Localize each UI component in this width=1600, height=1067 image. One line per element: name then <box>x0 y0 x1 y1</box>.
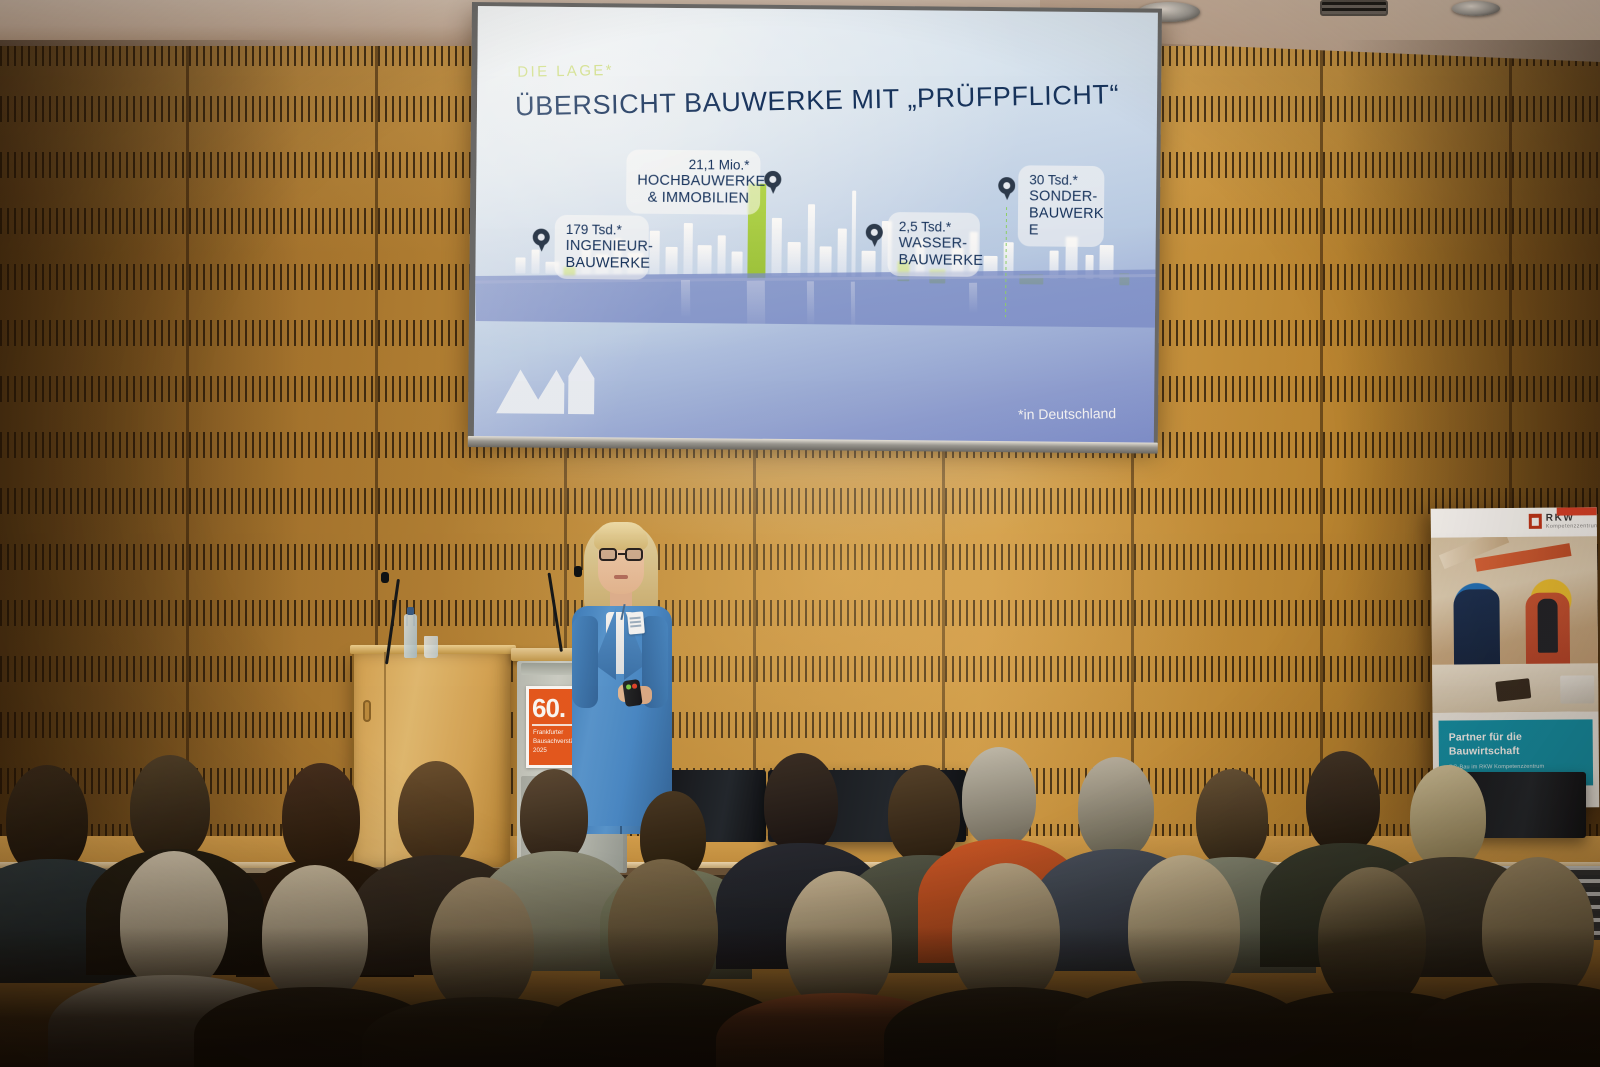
slide-footnote: *in Deutschland <box>1018 405 1116 422</box>
audience-head <box>120 851 228 991</box>
audience-head <box>398 761 474 865</box>
poster-edition-number: 60. <box>532 695 565 721</box>
audience-head <box>1410 765 1486 869</box>
callout-hochbauwerke: 21,1 Mio.* HOCHBAUWERKE & IMMOBILIEN <box>626 149 761 214</box>
screen-frame: DIE LAGE* ÜBERSICHT BAUWERKE MIT „PRÜFPF… <box>468 2 1162 445</box>
callout-label-2: BAUWERKE <box>898 252 968 270</box>
map-pin-icon <box>764 171 781 194</box>
callout-label-2: BAUWERK <box>1029 205 1093 223</box>
banner-headline-line1: Partner für die <box>1449 731 1522 744</box>
ceiling-downlight-icon <box>1452 1 1500 16</box>
eyeglasses-icon <box>598 548 644 561</box>
name-badge <box>627 611 645 634</box>
map-pin-icon <box>866 224 883 247</box>
cabinet-handle[interactable] <box>363 700 371 722</box>
callout-label-1: HOCHBAUWERKE <box>637 172 749 190</box>
bottle-cap <box>407 607 414 615</box>
clicker-green-button[interactable] <box>626 684 631 689</box>
lens-right <box>625 548 643 561</box>
callout-sonderbauwerke: 30 Tsd.* SONDER- BAUWERK E <box>1018 165 1105 246</box>
audience-head <box>262 865 368 1003</box>
presentation-slide: DIE LAGE* ÜBERSICHT BAUWERKE MIT „PRÜFPF… <box>474 6 1158 445</box>
callout-label-1: SONDER- <box>1029 188 1093 206</box>
audience-head <box>1196 769 1268 867</box>
callout-label-3: E <box>1029 222 1093 240</box>
callout-label-1: WASSER- <box>899 235 969 253</box>
tablet-icon <box>1495 678 1531 702</box>
slide-eyebrow: DIE LAGE* <box>517 62 614 81</box>
audience-head <box>888 765 960 863</box>
water-bottle <box>404 614 417 658</box>
projection-screen: DIE LAGE* ÜBERSICHT BAUWERKE MIT „PRÜFPF… <box>468 2 1162 445</box>
slide-title: ÜBERSICHT BAUWERKE MIT „PRÜFPFLICHT“ <box>515 79 1120 122</box>
audience-head <box>282 763 360 871</box>
banner-header: RKW Kompetenzzentrum <box>1431 507 1597 537</box>
audience <box>0 747 1600 1067</box>
audience-shoulders <box>1412 983 1600 1067</box>
callout-value: 179 Tsd.* <box>566 222 638 238</box>
audience-head <box>1306 751 1380 853</box>
callout-ingenieurbauwerke: 179 Tsd.* INGENIEUR- BAUWERKE <box>554 215 649 280</box>
audience-head <box>952 863 1060 1005</box>
banner-photo <box>1431 536 1599 712</box>
audience-head <box>130 755 210 861</box>
callout-value: 21,1 Mio.* <box>637 157 749 174</box>
callout-wasserbauwerke: 2,5 Tsd.* WASSER- BAUWERKE <box>887 212 980 277</box>
banner-accent-tab <box>1557 507 1597 515</box>
presentation-clicker[interactable] <box>622 679 642 707</box>
conference-photo-scene: DIE LAGE* ÜBERSICHT BAUWERKE MIT „PRÜFPF… <box>0 0 1600 1067</box>
callout-label-2: BAUWERKE <box>565 255 637 273</box>
lens-left <box>599 548 617 561</box>
water-glass <box>424 636 438 658</box>
speaker-mouth <box>614 575 628 579</box>
audience-head <box>430 877 534 1013</box>
audience-head <box>1482 857 1594 1001</box>
callout-value: 30 Tsd.* <box>1029 172 1093 188</box>
banner-brand-sub: Kompetenzzentrum <box>1546 523 1599 529</box>
map-pin-icon <box>998 177 1015 200</box>
audience-head <box>1128 855 1240 1001</box>
glasses-bridge <box>618 553 625 555</box>
audience-head <box>786 871 892 1011</box>
audience-head <box>1078 757 1154 859</box>
rkw-logo-icon <box>1529 514 1542 529</box>
audience-head <box>764 753 838 853</box>
speaker-hair-front <box>594 522 648 550</box>
map-pin-icon <box>533 229 550 252</box>
ceiling-vent-icon <box>1320 0 1388 16</box>
audience-head <box>520 769 588 863</box>
callout-label-1: INGENIEUR- <box>566 238 638 256</box>
audience-head <box>962 747 1036 847</box>
mountain-logo <box>494 353 603 421</box>
clicker-red-button[interactable] <box>632 683 637 688</box>
worker-torso <box>1537 599 1557 653</box>
callout-label-2: & IMMOBILIEN <box>637 189 749 207</box>
speaker-arm-left <box>572 616 598 708</box>
audience-head <box>1318 867 1426 1009</box>
laptop-icon <box>1560 675 1594 703</box>
callout-value: 2,5 Tsd.* <box>899 219 969 235</box>
microphone-head-icon <box>381 572 389 583</box>
audience-head <box>608 859 718 1001</box>
